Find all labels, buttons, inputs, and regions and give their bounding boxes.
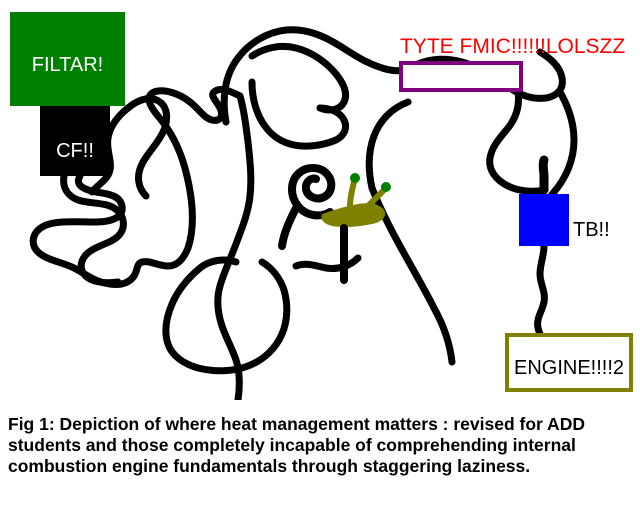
snail-shell-tail [282,208,296,246]
cold-feed-callout-box[interactable]: CF!! [40,106,110,176]
doodle-right-lower-diagonal-upper [369,102,408,188]
filter-callout-box[interactable]: FILTAR! [10,12,125,106]
doodle-intake-loop-lower [252,82,346,146]
filter-callout-label: FILTAR! [32,55,103,75]
engine-callout-box[interactable]: ENGINE!!!!2 [505,333,633,392]
figure-caption-block: Fig 1: Depiction of where heat managemen… [0,400,640,520]
snail-antenna-left [350,182,354,206]
doodle-outline-left [33,176,188,285]
fmic-callout-label: TYTE FMIC!!!!!!LOLSZZ [400,36,625,57]
throttle-body-callout-label: TB!! [573,220,610,240]
doodle-divider-wiggle [218,96,251,400]
snail-antenna-left-tip [350,173,360,183]
snail-antenna-right-tip [381,182,391,192]
doodle-fmic-to-tb-pipe [490,92,544,191]
engine-callout-label: ENGINE!!!!2 [514,358,624,378]
cold-feed-callout-label: CF!! [56,141,94,161]
throttle-body-callout-box[interactable] [519,194,569,246]
doodle-tb-to-engine-pipe [538,246,545,337]
doodle-intake-loop-inner [252,46,346,110]
fmic-callout-box[interactable] [399,61,523,92]
doodle-upper-left-zigzag [128,99,167,196]
snail-body [321,203,385,227]
doodle-mid-squiggle [296,258,358,269]
figure-root: FILTAR! CF!! TYTE FMIC!!!!!!LOLSZZ TB!! … [0,0,640,520]
figure-caption-text: Fig 1: Depiction of where heat managemen… [8,414,632,477]
doodle-tb-inlet [543,160,544,190]
